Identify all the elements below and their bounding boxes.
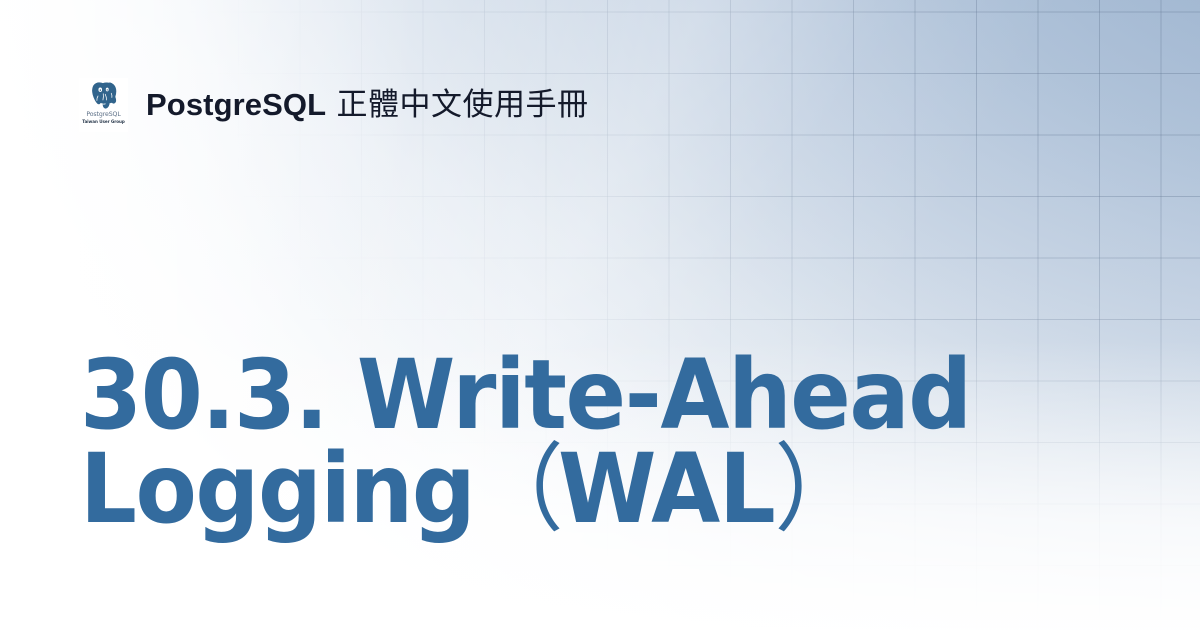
site-title: PostgreSQL 正體中文使用手冊: [146, 89, 589, 121]
site-title-brand: PostgreSQL: [146, 87, 326, 122]
page-title-line-2: Logging（WAL）: [80, 442, 1047, 536]
page-title-paren-close: ）: [774, 433, 858, 545]
logo-card: PostgreSQL Taiwan User Group: [79, 78, 128, 132]
page-title-paren-open: （: [474, 433, 558, 545]
page-title-line-2-text: Logging: [80, 433, 474, 545]
logo-subtitle: Taiwan User Group: [82, 120, 124, 124]
header: PostgreSQL Taiwan User Group PostgreSQL …: [79, 78, 589, 132]
page-title: 30.3. Write-Ahead Logging（WAL）: [80, 348, 1120, 536]
logo-wordmark: PostgreSQL: [86, 112, 120, 118]
og-image-card: PostgreSQL Taiwan User Group PostgreSQL …: [0, 0, 1200, 630]
site-title-cjk: 正體中文使用手冊: [326, 87, 588, 123]
page-title-line-1: 30.3. Write-Ahead: [80, 348, 1047, 442]
postgresql-elephant-logo-icon: [88, 81, 120, 112]
page-title-abbreviation: WAL: [558, 433, 774, 545]
